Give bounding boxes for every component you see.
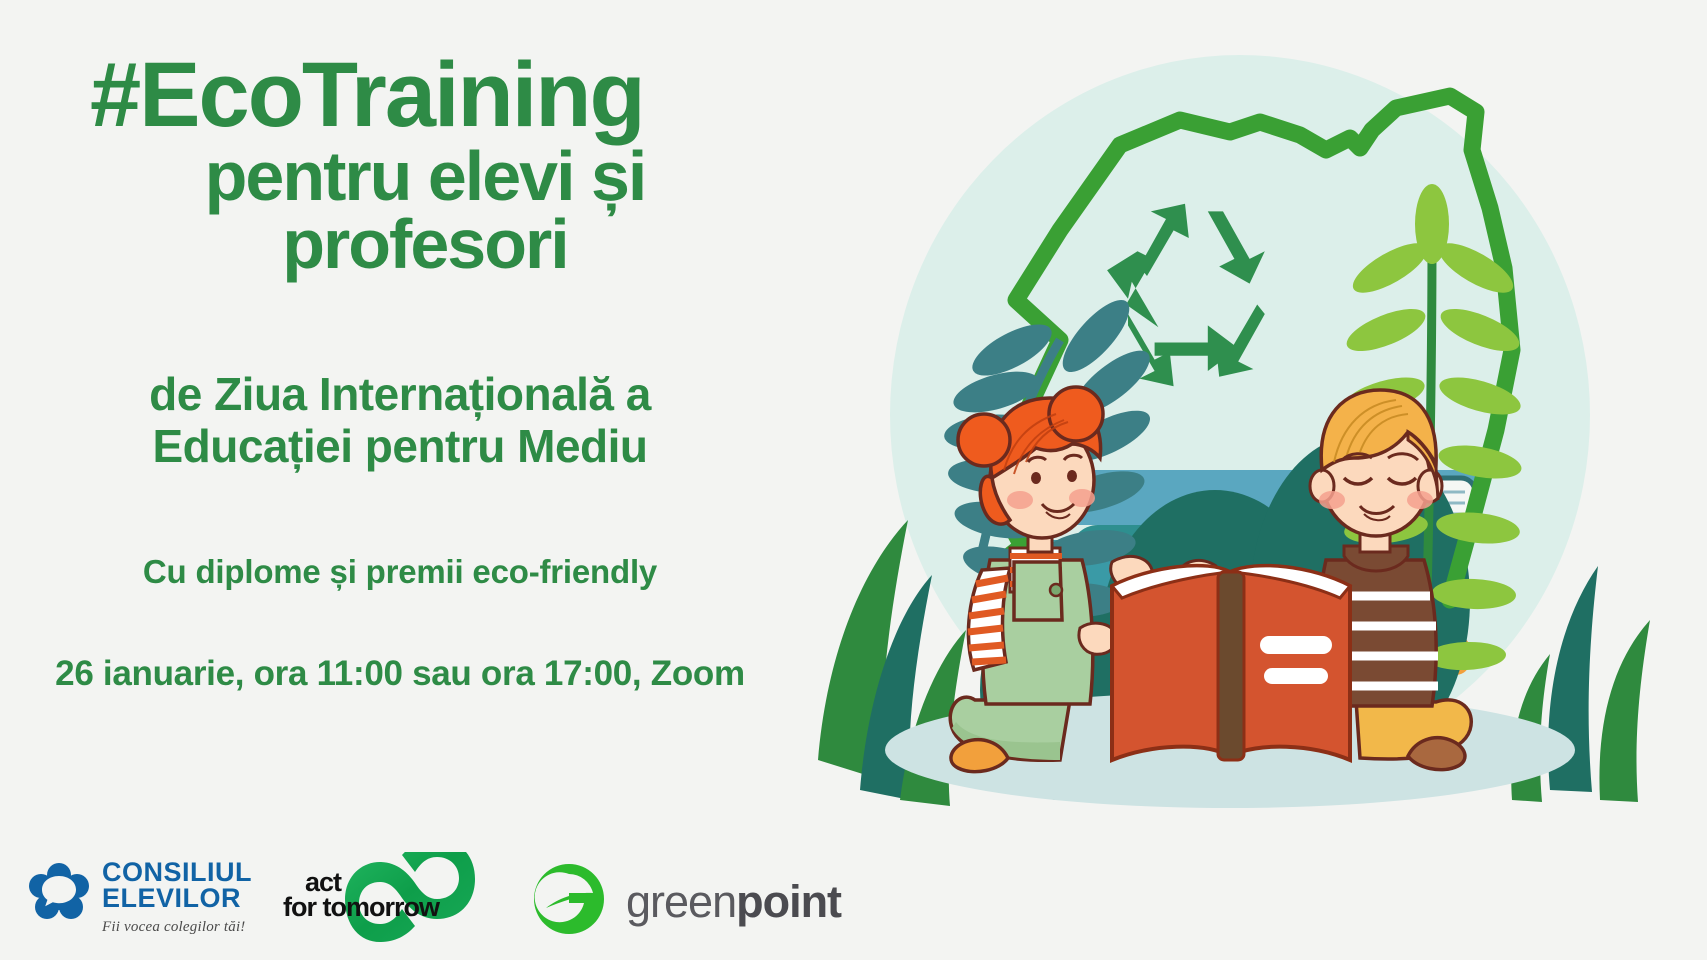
text-column: #EcoTraining pentru elevi și profesori d… — [0, 0, 820, 960]
logo-act-for-tomorrow: act for tomorrow — [275, 852, 495, 947]
headline-line-2: pentru elevi și — [90, 143, 790, 211]
headline-line-3: profesori — [90, 211, 790, 279]
greenpoint-g-icon — [530, 860, 608, 943]
logo-row: CONSILIUL ELEVILOR Fii vocea colegilor t… — [0, 760, 860, 960]
tagline: Cu diplome și premii eco-friendly — [70, 553, 730, 591]
aft-line-2: for tomorrow — [283, 895, 439, 920]
event-datetime: 26 ianuarie, ora 11:00 sau ora 17:00, Zo… — [55, 650, 745, 697]
page-title: #EcoTraining pentru elevi și profesori — [90, 52, 790, 279]
flower-speech-bubble-icon — [28, 862, 90, 924]
headline-line-1: #EcoTraining — [90, 52, 790, 139]
act-for-tomorrow-text: act for tomorrow — [283, 870, 439, 920]
logo-consiliul-elevilor: CONSILIUL ELEVILOR Fii vocea colegilor t… — [28, 860, 252, 936]
poster-canvas: #EcoTraining pentru elevi și profesori d… — [0, 0, 1707, 960]
open-book — [1112, 566, 1350, 760]
illustration — [760, 0, 1707, 960]
ce-slogan: Fii vocea colegilor tăi! — [102, 919, 252, 936]
consiliul-elevilor-text: CONSILIUL ELEVILOR Fii vocea colegilor t… — [102, 860, 252, 936]
subheadline: de Ziua Internațională a Educației pentr… — [90, 368, 710, 473]
greenpoint-word-light: green — [626, 876, 736, 927]
ce-line-2: ELEVILOR — [102, 886, 252, 912]
